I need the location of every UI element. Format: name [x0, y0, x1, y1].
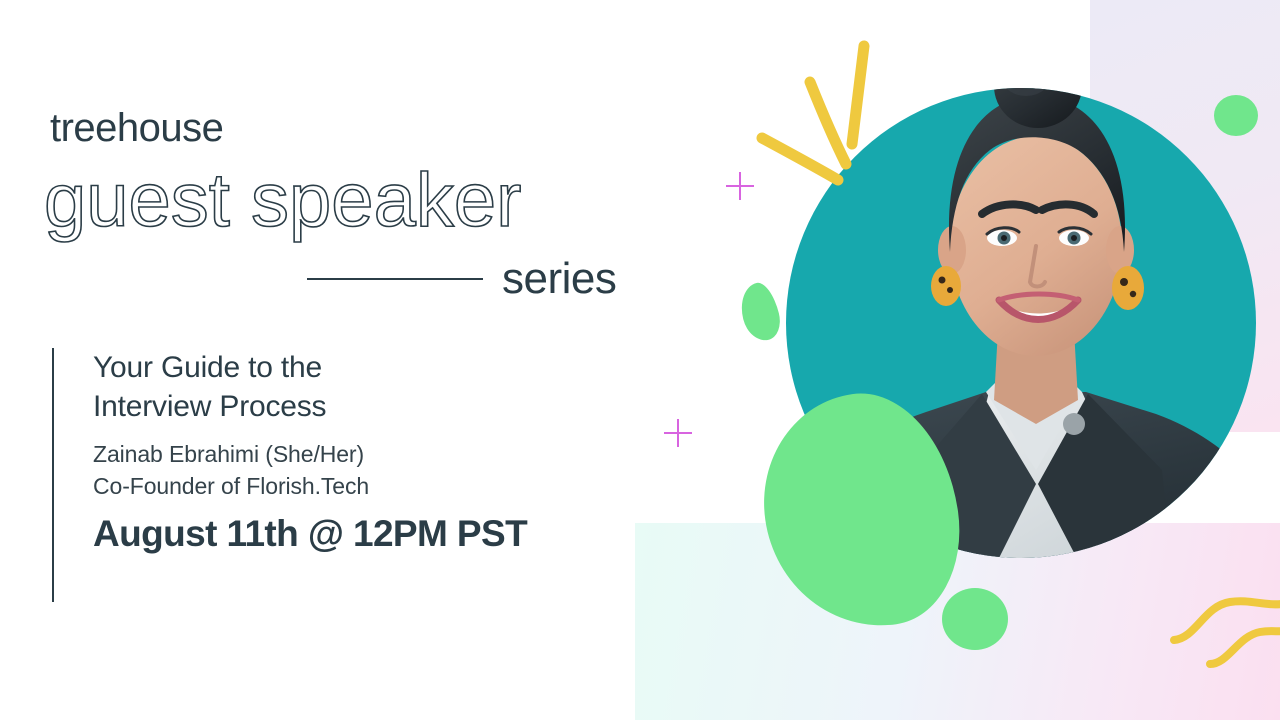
promo-graphic-canvas: treehouse guest speaker series Your Guid…: [0, 0, 1280, 720]
plus-mark-icon-2: [664, 419, 692, 447]
speaker-name: Zainab Ebrahimi (She/Her): [93, 438, 612, 470]
sparkle-icon: [748, 38, 888, 188]
session-title-line-1: Your Guide to the: [93, 351, 322, 384]
session-title-line-2: Interview Process: [93, 390, 326, 423]
series-divider-rule: [307, 278, 483, 280]
session-title: Your Guide to the Interview Process: [93, 348, 612, 426]
event-datetime: August 11th @ 12PM PST: [93, 514, 612, 555]
series-label: series: [502, 257, 616, 301]
green-circle-bottom: [942, 588, 1008, 650]
wavy-lines-icon: [1164, 592, 1280, 682]
headline-outline: guest speaker: [44, 160, 521, 242]
plus-mark-icon-1: [726, 172, 754, 200]
series-row: series: [307, 253, 627, 305]
green-teardrop-blob: [736, 280, 785, 345]
speaker-role: Co-Founder of Florish.Tech: [93, 470, 612, 502]
session-info-block: Your Guide to the Interview Process Zain…: [52, 348, 612, 602]
brand-name: treehouse: [50, 108, 223, 148]
